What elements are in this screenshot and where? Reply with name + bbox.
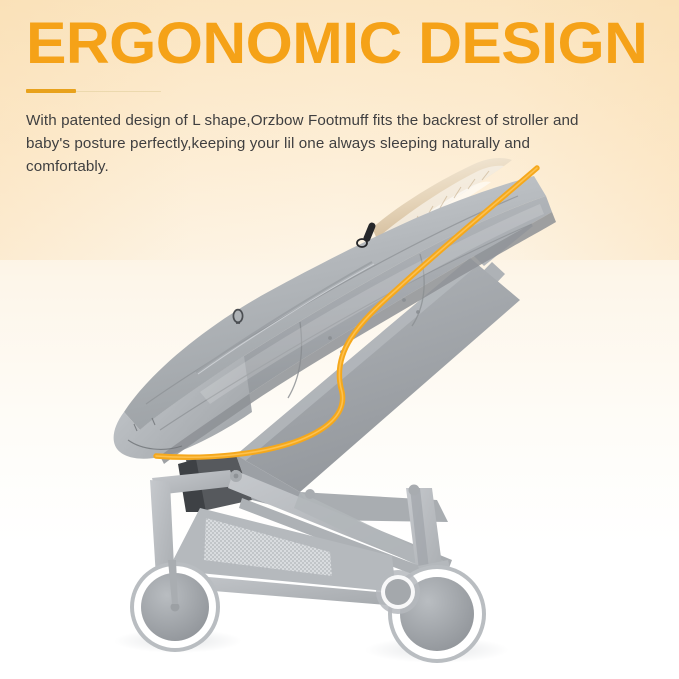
footmuff-foot-end [114,356,252,459]
title-divider [26,89,161,95]
stroller-frame [140,214,533,610]
footmuff-loop [233,310,242,323]
footmuff [114,158,556,464]
ground-shadow-rear [365,637,509,663]
ground-shadow-front [114,629,242,653]
basket-mesh [204,518,332,576]
l-shape-highlight-line [156,168,537,457]
footmuff-top-face [124,176,546,430]
footmuff-side-face [140,196,552,456]
divider-accent [26,89,76,93]
body-paragraph: With patented design of L shape,Orzbow F… [26,109,592,178]
footmuff-underside [160,212,556,464]
page-title: ERGONOMIC DESIGN [26,16,679,73]
footmuff-seams [146,196,532,430]
product-feature-page: ERGONOMIC DESIGN With patented design of… [0,0,679,679]
header: ERGONOMIC DESIGN With patented design of… [0,0,679,178]
front-wheel [130,560,220,652]
wheels [130,560,486,663]
rear-wheel [388,565,486,663]
zipper-pull [357,222,376,247]
seat-back-panel [236,258,520,492]
